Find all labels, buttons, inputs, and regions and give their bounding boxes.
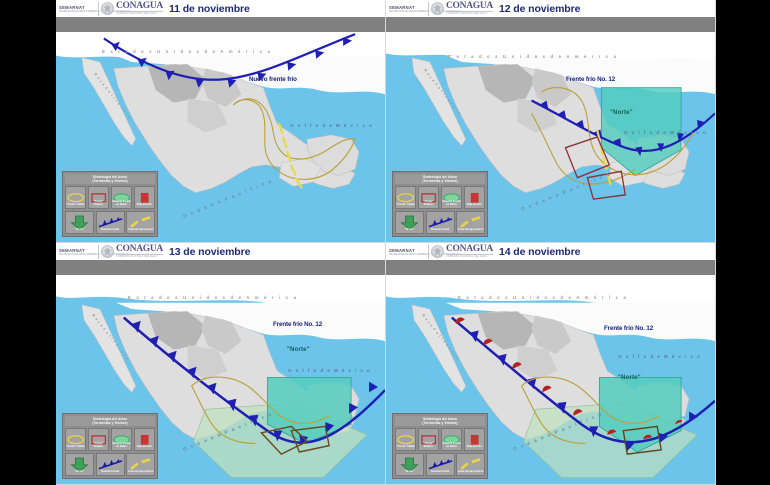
legend-caption: "Frente" Estacio. <box>419 201 438 207</box>
legend-caption: "Frente" Estacio. <box>419 443 438 449</box>
legend-cell-sistema-frontal: Sistema frontal en altura <box>441 428 462 452</box>
norte-arrow-icon <box>396 455 423 466</box>
panel-header: SEMARNAT SECRETARÍA DE MEDIO AMBIENTE Y … <box>56 0 385 17</box>
cold-front-icon <box>97 455 124 466</box>
map-legend: Simbología del Aviso (Tormentas y Viento… <box>392 413 488 479</box>
forecast-panel-12-nov[interactable]: SEMARNAT SECRETARÍA DE MEDIO AMBIENTE Y … <box>386 0 716 243</box>
legend-cell-baja-presion: Baja presión <box>464 428 485 452</box>
legend-cell-sistema-frontal: Sistema frontal en altura <box>441 186 462 210</box>
semarnat-logo: SEMARNAT SECRETARÍA DE MEDIO AMBIENTE Y … <box>389 2 429 16</box>
legend-cell-frente-estacionario: "Frente" Estacio. <box>418 428 439 452</box>
forecast-panel-13-nov[interactable]: SEMARNAT SECRETARÍA DE MEDIO AMBIENTE Y … <box>56 243 386 485</box>
stationary-front-swatch-icon <box>89 430 108 441</box>
stationary-front-swatch-icon <box>419 430 438 441</box>
legend-cell-norte: "Norte" <box>65 453 94 477</box>
low-pressure-swatch-icon <box>135 188 154 199</box>
map-panel-grid: SEMARNAT SECRETARÍA DE MEDIO AMBIENTE Y … <box>56 0 716 485</box>
legend-caption: "Frente" Cálido <box>66 204 85 207</box>
upper-front-swatch-icon <box>112 430 131 441</box>
legend-cell-frente-estacionario: "Frente" Estacio. <box>88 186 109 210</box>
map-legend: Simbología del Aviso (Tormentas y Viento… <box>392 171 488 237</box>
legend-cell-frente-calido: "Frente" Cálido <box>395 428 416 452</box>
semarnat-subtitle: SECRETARÍA DE MEDIO AMBIENTE Y RECURSOS … <box>389 10 426 13</box>
panel-gray-banner <box>386 17 715 32</box>
cold-front-icon <box>427 455 454 466</box>
upper-front-swatch-icon <box>442 188 461 199</box>
weather-map[interactable]: E s t a d o s U n i d o s d e A m é r i … <box>56 32 385 242</box>
national-seal-icon <box>101 2 114 15</box>
letterbox-left <box>0 0 56 485</box>
dry-line-icon <box>457 213 484 224</box>
legend-title-line2: (Tormentas y Vientos) <box>422 421 457 425</box>
panel-gray-banner <box>56 260 385 275</box>
legend-cell-norte: "Norte" <box>395 453 424 477</box>
norte-arrow-icon <box>396 213 423 224</box>
legend-caption: Sistema frontal en altura <box>112 443 131 449</box>
panel-date-title: 14 de noviembre <box>499 246 580 258</box>
low-pressure-swatch-icon <box>465 188 484 199</box>
legend-caption: Línea de baja presión <box>127 471 154 474</box>
legend-caption: Sistema frontal <box>427 471 454 474</box>
conagua-subtitle: COMISIÓN NACIONAL DEL AGUA <box>116 11 163 16</box>
legend-row-bottom: "Norte" Sistema frontal Línea de baja pr… <box>395 211 485 235</box>
conagua-wordmark: CONAGUA <box>116 1 163 11</box>
legend-title: Simbología del Aviso (Tormentas y Viento… <box>65 174 155 184</box>
legend-caption: Baja presión <box>135 204 154 207</box>
conagua-logo: CONAGUA COMISIÓN NACIONAL DEL AGUA <box>116 1 163 16</box>
legend-caption: "Frente" Estacio. <box>89 201 108 207</box>
panel-gray-banner <box>386 260 715 275</box>
map-legend: Simbología del Aviso (Tormentas y Viento… <box>62 413 158 479</box>
legend-cell-frente-calido: "Frente" Cálido <box>65 428 86 452</box>
conagua-logo: CONAGUA COMISIÓN NACIONAL DEL AGUA <box>116 244 163 259</box>
legend-caption: Sistema frontal <box>97 471 124 474</box>
panel-date-title: 11 de noviembre <box>169 3 250 15</box>
legend-title: Simbología del Aviso (Tormentas y Viento… <box>395 174 485 184</box>
legend-cell-linea-seca: Línea de baja presión <box>126 211 155 235</box>
legend-row-bottom: "Norte" Sistema frontal Línea de baja pr… <box>65 453 155 477</box>
legend-row-bottom: "Norte" Sistema frontal Línea de baja pr… <box>395 453 485 477</box>
forecast-panel-14-nov[interactable]: SEMARNAT SECRETARÍA DE MEDIO AMBIENTE Y … <box>386 243 716 485</box>
legend-caption: "Frente" Estacio. <box>89 443 108 449</box>
upper-front-swatch-icon <box>442 430 461 441</box>
stationary-front-swatch-icon <box>89 188 108 199</box>
legend-caption: Línea de baja presión <box>457 471 484 474</box>
panel-header: SEMARNAT SECRETARÍA DE MEDIO AMBIENTE Y … <box>386 243 715 260</box>
norte-arrow-icon <box>66 455 93 466</box>
legend-cell-frente-estacionario: "Frente" Estacio. <box>418 186 439 210</box>
panel-gray-banner <box>56 17 385 32</box>
forecast-panel-11-nov[interactable]: SEMARNAT SECRETARÍA DE MEDIO AMBIENTE Y … <box>56 0 386 243</box>
conagua-logo: CONAGUA COMISIÓN NACIONAL DEL AGUA <box>446 244 493 259</box>
legend-cell-frente-calido: "Frente" Cálido <box>395 186 416 210</box>
warm-front-swatch-icon <box>66 430 85 441</box>
legend-cell-norte: "Norte" <box>395 211 424 235</box>
conagua-wordmark: CONAGUA <box>446 1 493 11</box>
legend-title-line2: (Tormentas y Vientos) <box>92 421 127 425</box>
legend-caption: "Norte" <box>66 229 93 232</box>
panel-date-title: 13 de noviembre <box>169 246 250 258</box>
legend-row-bottom: "Norte" Sistema frontal Línea de baja pr… <box>65 211 155 235</box>
legend-cell-linea-seca: Línea de baja presión <box>456 211 485 235</box>
legend-caption: Sistema frontal <box>97 229 124 232</box>
legend-title: Simbología del Aviso (Tormentas y Viento… <box>65 416 155 426</box>
legend-title-line2: (Tormentas y Vientos) <box>422 179 457 183</box>
legend-caption: Sistema frontal en altura <box>442 443 461 449</box>
legend-title: Simbología del Aviso (Tormentas y Viento… <box>395 416 485 426</box>
conagua-subtitle: COMISIÓN NACIONAL DEL AGUA <box>446 254 493 259</box>
conagua-wordmark: CONAGUA <box>446 244 493 254</box>
legend-caption: Baja presión <box>135 446 154 449</box>
low-pressure-swatch-icon <box>135 430 154 441</box>
legend-caption: "Norte" <box>396 471 423 474</box>
legend-cell-frente-frio: Sistema frontal <box>426 453 455 477</box>
legend-cell-baja-presion: Baja presión <box>134 186 155 210</box>
legend-title-line2: (Tormentas y Vientos) <box>92 179 127 183</box>
legend-row-top: "Frente" Cálido "Frente" Estacio. Sistem… <box>395 428 485 452</box>
legend-cell-frente-frio: Sistema frontal <box>96 453 125 477</box>
dry-line-icon <box>127 213 154 224</box>
semarnat-subtitle: SECRETARÍA DE MEDIO AMBIENTE Y RECURSOS … <box>389 253 426 256</box>
upper-front-swatch-icon <box>112 188 131 199</box>
legend-caption: "Frente" Cálido <box>66 446 85 449</box>
warm-front-swatch-icon <box>66 188 85 199</box>
national-seal-icon <box>101 245 114 258</box>
semarnat-logo: SEMARNAT SECRETARÍA DE MEDIO AMBIENTE Y … <box>59 245 99 259</box>
legend-caption: Baja presión <box>465 204 484 207</box>
screenshot-root: SEMARNAT SECRETARÍA DE MEDIO AMBIENTE Y … <box>0 0 770 485</box>
legend-cell-sistema-frontal: Sistema frontal en altura <box>111 428 132 452</box>
conagua-wordmark: CONAGUA <box>116 244 163 254</box>
legend-caption: "Norte" <box>66 471 93 474</box>
semarnat-logo: SEMARNAT SECRETARÍA DE MEDIO AMBIENTE Y … <box>59 2 99 16</box>
legend-cell-frente-frio: Sistema frontal <box>96 211 125 235</box>
legend-cell-baja-presion: Baja presión <box>134 428 155 452</box>
legend-caption: "Norte" <box>396 229 423 232</box>
legend-cell-norte: "Norte" <box>65 211 94 235</box>
weather-map[interactable]: E s t a d o s U n i d o s d e A m é r i … <box>386 32 715 242</box>
national-seal-icon <box>431 245 444 258</box>
legend-cell-frente-calido: "Frente" Cálido <box>65 186 86 210</box>
legend-cell-linea-seca: Línea de baja presión <box>456 453 485 477</box>
legend-row-top: "Frente" Cálido "Frente" Estacio. Sistem… <box>65 428 155 452</box>
weather-map[interactable]: E s t a d o s U n i d o s d e A m é r i … <box>386 275 715 484</box>
national-seal-icon <box>431 2 444 15</box>
cold-front-icon <box>97 213 124 224</box>
stationary-front-swatch-icon <box>419 188 438 199</box>
dry-line-icon <box>127 455 154 466</box>
legend-caption: Sistema frontal en altura <box>442 201 461 207</box>
legend-cell-baja-presion: Baja presión <box>464 186 485 210</box>
semarnat-subtitle: SECRETARÍA DE MEDIO AMBIENTE Y RECURSOS … <box>59 10 96 13</box>
legend-caption: Línea de baja presión <box>457 229 484 232</box>
panel-header: SEMARNAT SECRETARÍA DE MEDIO AMBIENTE Y … <box>56 243 385 260</box>
legend-row-top: "Frente" Cálido "Frente" Estacio. Sistem… <box>65 186 155 210</box>
legend-cell-frente-frio: Sistema frontal <box>426 211 455 235</box>
legend-caption: "Frente" Cálido <box>396 446 415 449</box>
conagua-subtitle: COMISIÓN NACIONAL DEL AGUA <box>116 254 163 259</box>
cold-front-icon <box>427 213 454 224</box>
conagua-logo: CONAGUA COMISIÓN NACIONAL DEL AGUA <box>446 1 493 16</box>
conagua-subtitle: COMISIÓN NACIONAL DEL AGUA <box>446 11 493 16</box>
legend-caption: Línea de baja presión <box>127 229 154 232</box>
legend-cell-sistema-frontal: Sistema frontal en altura <box>111 186 132 210</box>
norte-arrow-icon <box>66 213 93 224</box>
legend-caption: Baja presión <box>465 446 484 449</box>
legend-caption: Sistema frontal <box>427 229 454 232</box>
weather-map[interactable]: E s t a d o s U n i d o s d e A m é r i … <box>56 275 385 484</box>
dry-line-icon <box>457 455 484 466</box>
panel-header: SEMARNAT SECRETARÍA DE MEDIO AMBIENTE Y … <box>386 0 715 17</box>
low-pressure-swatch-icon <box>465 430 484 441</box>
semarnat-subtitle: SECRETARÍA DE MEDIO AMBIENTE Y RECURSOS … <box>59 253 96 256</box>
letterbox-right <box>716 0 770 485</box>
warm-front-swatch-icon <box>396 430 415 441</box>
legend-caption: "Frente" Cálido <box>396 204 415 207</box>
panel-date-title: 12 de noviembre <box>499 3 580 15</box>
legend-cell-frente-estacionario: "Frente" Estacio. <box>88 428 109 452</box>
legend-row-top: "Frente" Cálido "Frente" Estacio. Sistem… <box>395 186 485 210</box>
warm-front-swatch-icon <box>396 188 415 199</box>
legend-caption: Sistema frontal en altura <box>112 201 131 207</box>
legend-cell-linea-seca: Línea de baja presión <box>126 453 155 477</box>
map-legend: Simbología del Aviso (Tormentas y Viento… <box>62 171 158 237</box>
semarnat-logo: SEMARNAT SECRETARÍA DE MEDIO AMBIENTE Y … <box>389 245 429 259</box>
